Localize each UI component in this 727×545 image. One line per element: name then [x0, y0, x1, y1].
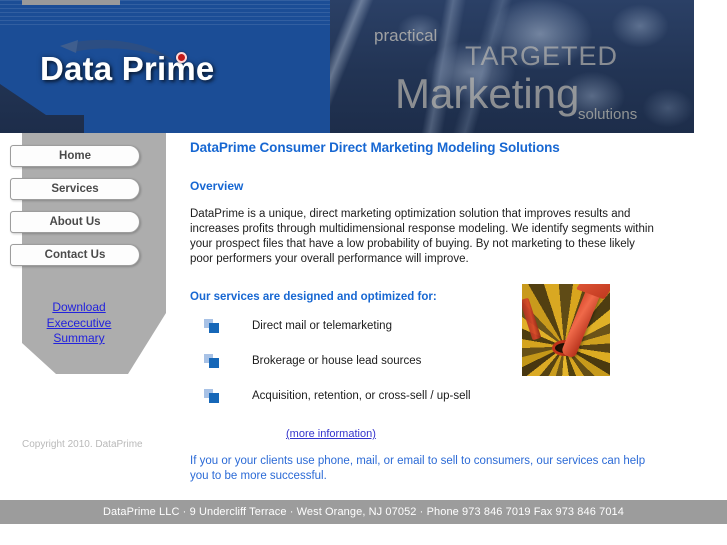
- bullet-squares-icon: [204, 354, 220, 368]
- main-navigation: Home Services About Us Contact Us: [10, 145, 150, 277]
- header-banner: Data Prime practical TARGETED Marketing …: [0, 0, 694, 133]
- dart-secondary-icon: [522, 298, 541, 341]
- header-top-tab-accent: [22, 0, 120, 5]
- page-title: DataPrime Consumer Direct Marketing Mode…: [190, 140, 670, 155]
- service-label-brokerage: Brokerage or house lead sources: [252, 355, 421, 367]
- closing-paragraph: If you or your clients use phone, mail, …: [190, 454, 658, 484]
- tagline-marketing: Marketing: [395, 70, 579, 118]
- copyright-text: Copyright 2010. DataPrime: [22, 439, 143, 450]
- overview-paragraph: DataPrime is a unique, direct marketing …: [190, 207, 658, 267]
- tagline-targeted: TARGETED: [465, 41, 618, 72]
- service-label-acquisition: Acquisition, retention, or cross-sell / …: [252, 390, 471, 402]
- sidebar-item-home[interactable]: Home: [10, 145, 140, 167]
- bullet-squares-icon: [204, 389, 220, 403]
- dartboard-image: [522, 284, 610, 376]
- overview-heading: Overview: [190, 179, 670, 193]
- sidebar-item-contact-us[interactable]: Contact Us: [10, 244, 140, 266]
- bullet-squares-icon: [204, 319, 220, 333]
- sidebar-item-about-us[interactable]: About Us: [10, 211, 140, 233]
- site-logo-text[interactable]: Data Prime: [40, 50, 214, 88]
- download-executive-summary-link[interactable]: Download Exececutive Summary: [26, 300, 132, 347]
- footer-contact-bar: DataPrime LLC · 9 Undercliff Terrace · W…: [0, 500, 727, 524]
- logo-target-dot-icon: [176, 52, 187, 63]
- list-item: Acquisition, retention, or cross-sell / …: [190, 389, 670, 403]
- service-label-direct-mail: Direct mail or telemarketing: [252, 320, 392, 332]
- more-information-link[interactable]: (more information): [190, 428, 376, 440]
- tagline-solutions: solutions: [578, 106, 637, 123]
- sidebar-item-services[interactable]: Services: [10, 178, 140, 200]
- tagline-practical: practical: [374, 26, 437, 46]
